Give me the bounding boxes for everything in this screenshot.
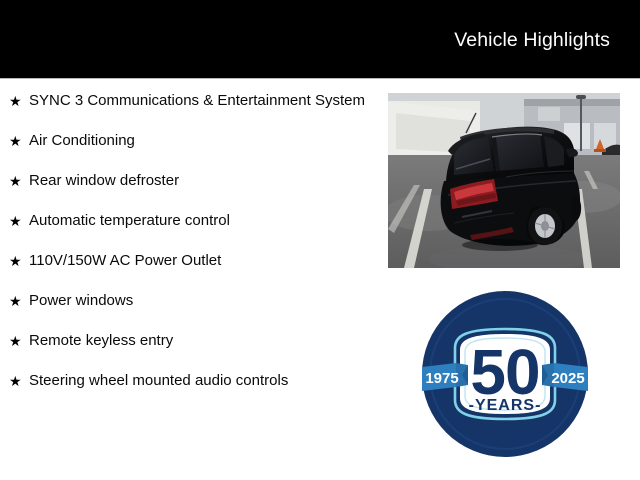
star-icon: ★ — [9, 210, 29, 232]
list-item: ★ Rear window defroster — [9, 170, 381, 192]
vehicle-highlights-list: ★ SYNC 3 Communications & Entertainment … — [9, 90, 381, 410]
star-icon: ★ — [9, 370, 29, 392]
list-item: ★ Remote keyless entry — [9, 330, 381, 352]
list-item: ★ Air Conditioning — [9, 130, 381, 152]
page-title: Vehicle Highlights — [454, 29, 610, 51]
anniversary-years-label: -YEARS- — [469, 397, 542, 414]
start-year-text: 1975 — [425, 370, 458, 387]
list-item: ★ Power windows — [9, 290, 381, 312]
list-item-label: Automatic temperature control — [29, 210, 381, 232]
header-bar: Vehicle Highlights — [0, 0, 640, 79]
slide-canvas: Vehicle Highlights ★ SYNC 3 Communicatio… — [0, 0, 640, 480]
star-icon: ★ — [9, 330, 29, 352]
list-item: ★ Steering wheel mounted audio controls — [9, 370, 381, 392]
list-item: ★ Automatic temperature control — [9, 210, 381, 232]
star-icon: ★ — [9, 290, 29, 312]
list-item-label: 110V/150W AC Power Outlet — [29, 250, 381, 272]
list-item-label: Remote keyless entry — [29, 330, 381, 352]
star-icon: ★ — [9, 250, 29, 272]
star-icon: ★ — [9, 170, 29, 192]
list-item-label: SYNC 3 Communications & Entertainment Sy… — [29, 90, 381, 112]
anniversary-badge: 1975 2025 50 -YEARS- — [422, 291, 588, 457]
list-item-label: Steering wheel mounted audio controls — [29, 370, 381, 392]
star-icon: ★ — [9, 90, 29, 112]
star-icon: ★ — [9, 130, 29, 152]
vehicle-photo — [388, 93, 620, 268]
end-year-text: 2025 — [551, 370, 584, 387]
list-item-label: Rear window defroster — [29, 170, 381, 192]
list-item-label: Air Conditioning — [29, 130, 381, 152]
list-item: ★ SYNC 3 Communications & Entertainment … — [9, 90, 381, 112]
list-item-label: Power windows — [29, 290, 381, 312]
list-item: ★ 110V/150W AC Power Outlet — [9, 250, 381, 272]
